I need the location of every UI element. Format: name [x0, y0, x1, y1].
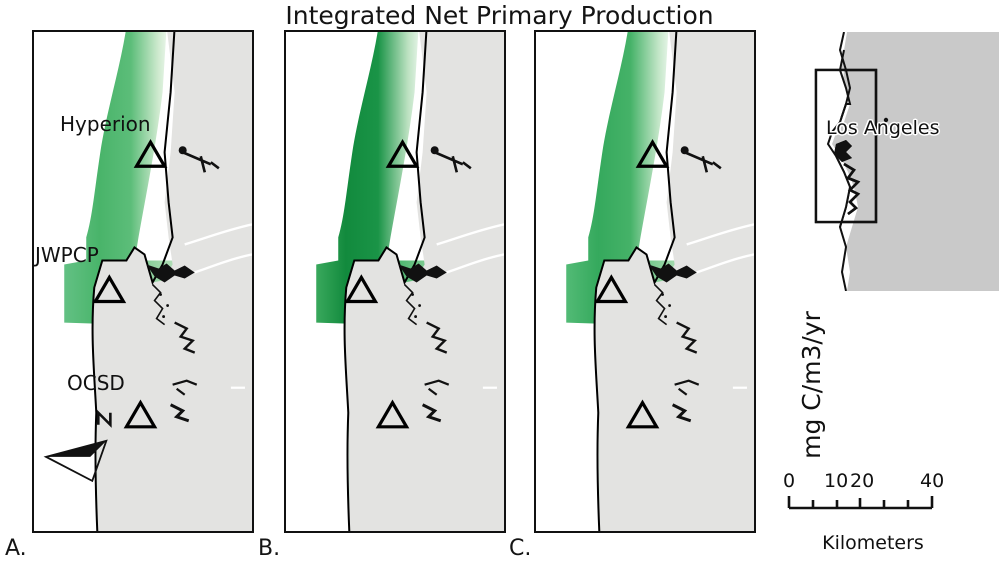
inset-map-svg — [806, 32, 999, 291]
page-title: Integrated Net Primary Production — [0, 1, 999, 30]
scale-bar: 0 10 20 40 Kilometers — [780, 472, 970, 567]
scale-tick-10: 10 — [824, 470, 848, 492]
inset-locator-map[interactable]: Los Angeles — [806, 32, 999, 291]
site-label-hyperion: Hyperion — [60, 112, 151, 136]
island-dot — [668, 304, 671, 307]
island-dot — [414, 315, 417, 318]
scale-tick-20: 20 — [850, 470, 874, 492]
legend-units-label: mg C/m3/yr — [716, 290, 906, 480]
site-label-ocsd: OCSD — [67, 371, 125, 395]
inset-city-label: Los Angeles — [826, 117, 939, 139]
site-label-jwpcp: JWPCP — [35, 243, 99, 267]
island-dot — [418, 304, 421, 307]
panel-label-a: A. — [5, 536, 27, 561]
figure-canvas: Integrated Net Primary Production — [0, 0, 999, 571]
island-dot — [159, 293, 162, 296]
island-dot — [166, 304, 169, 307]
panel-b-map — [286, 32, 504, 531]
panel-label-c: C. — [509, 536, 531, 561]
panel-label-b: B. — [258, 536, 280, 561]
island-dot — [661, 293, 664, 296]
island-dot — [411, 293, 414, 296]
scale-bar-label: Kilometers — [780, 532, 966, 554]
map-panel-a[interactable] — [32, 30, 254, 533]
island-dot — [162, 315, 165, 318]
island-dot — [664, 315, 667, 318]
scale-tick-0: 0 — [783, 470, 795, 492]
panel-a-map — [34, 32, 252, 531]
map-panel-b[interactable] — [284, 30, 506, 533]
scale-tick-40: 40 — [920, 470, 944, 492]
